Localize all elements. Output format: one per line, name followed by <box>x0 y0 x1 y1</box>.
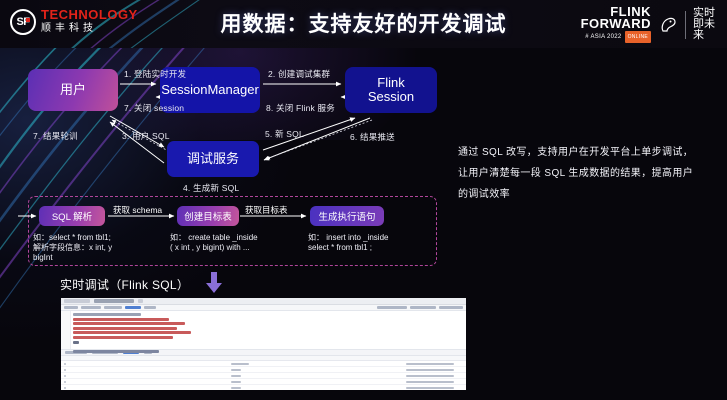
note-sql-parse: 如：select * from tbl1; 解析字段信息：x int, y bi… <box>33 233 153 263</box>
description-paragraph: 通过 SQL 改写，支持用户在开发平台上单步调试，让用户清楚每一段 SQL 生成… <box>458 142 703 205</box>
note-create-target-table: 如： create table _inside ( x int , y bigi… <box>170 233 300 253</box>
note-generate-statement: 如： insert into _inside select * from tbl… <box>308 233 434 253</box>
connector-label-get-schema: 获取 schema <box>113 204 162 216</box>
chip-generate-statement: 生成执行语句 <box>310 206 384 226</box>
screenshot-result-table <box>61 356 466 390</box>
chip-create-target-table: 创建目标表 <box>177 206 239 226</box>
down-arrow-icon <box>205 272 223 294</box>
table-row <box>61 385 466 390</box>
flink-sql-screenshot[interactable] <box>61 298 466 390</box>
screenshot-sql-editor[interactable] <box>61 311 466 349</box>
slide-root: SF TECHNOLOGY 顺丰科技 用数据：支持友好的开发调试 FLINK F… <box>0 0 727 400</box>
connector-label-get-target-table: 获取目标表 <box>245 204 288 216</box>
realtime-debug-label: 实时调试（Flink SQL） <box>60 276 189 293</box>
chip-sql-parse: SQL 解析 <box>39 206 105 226</box>
screenshot-tabbar <box>61 298 466 305</box>
editor-gutter <box>61 311 71 349</box>
